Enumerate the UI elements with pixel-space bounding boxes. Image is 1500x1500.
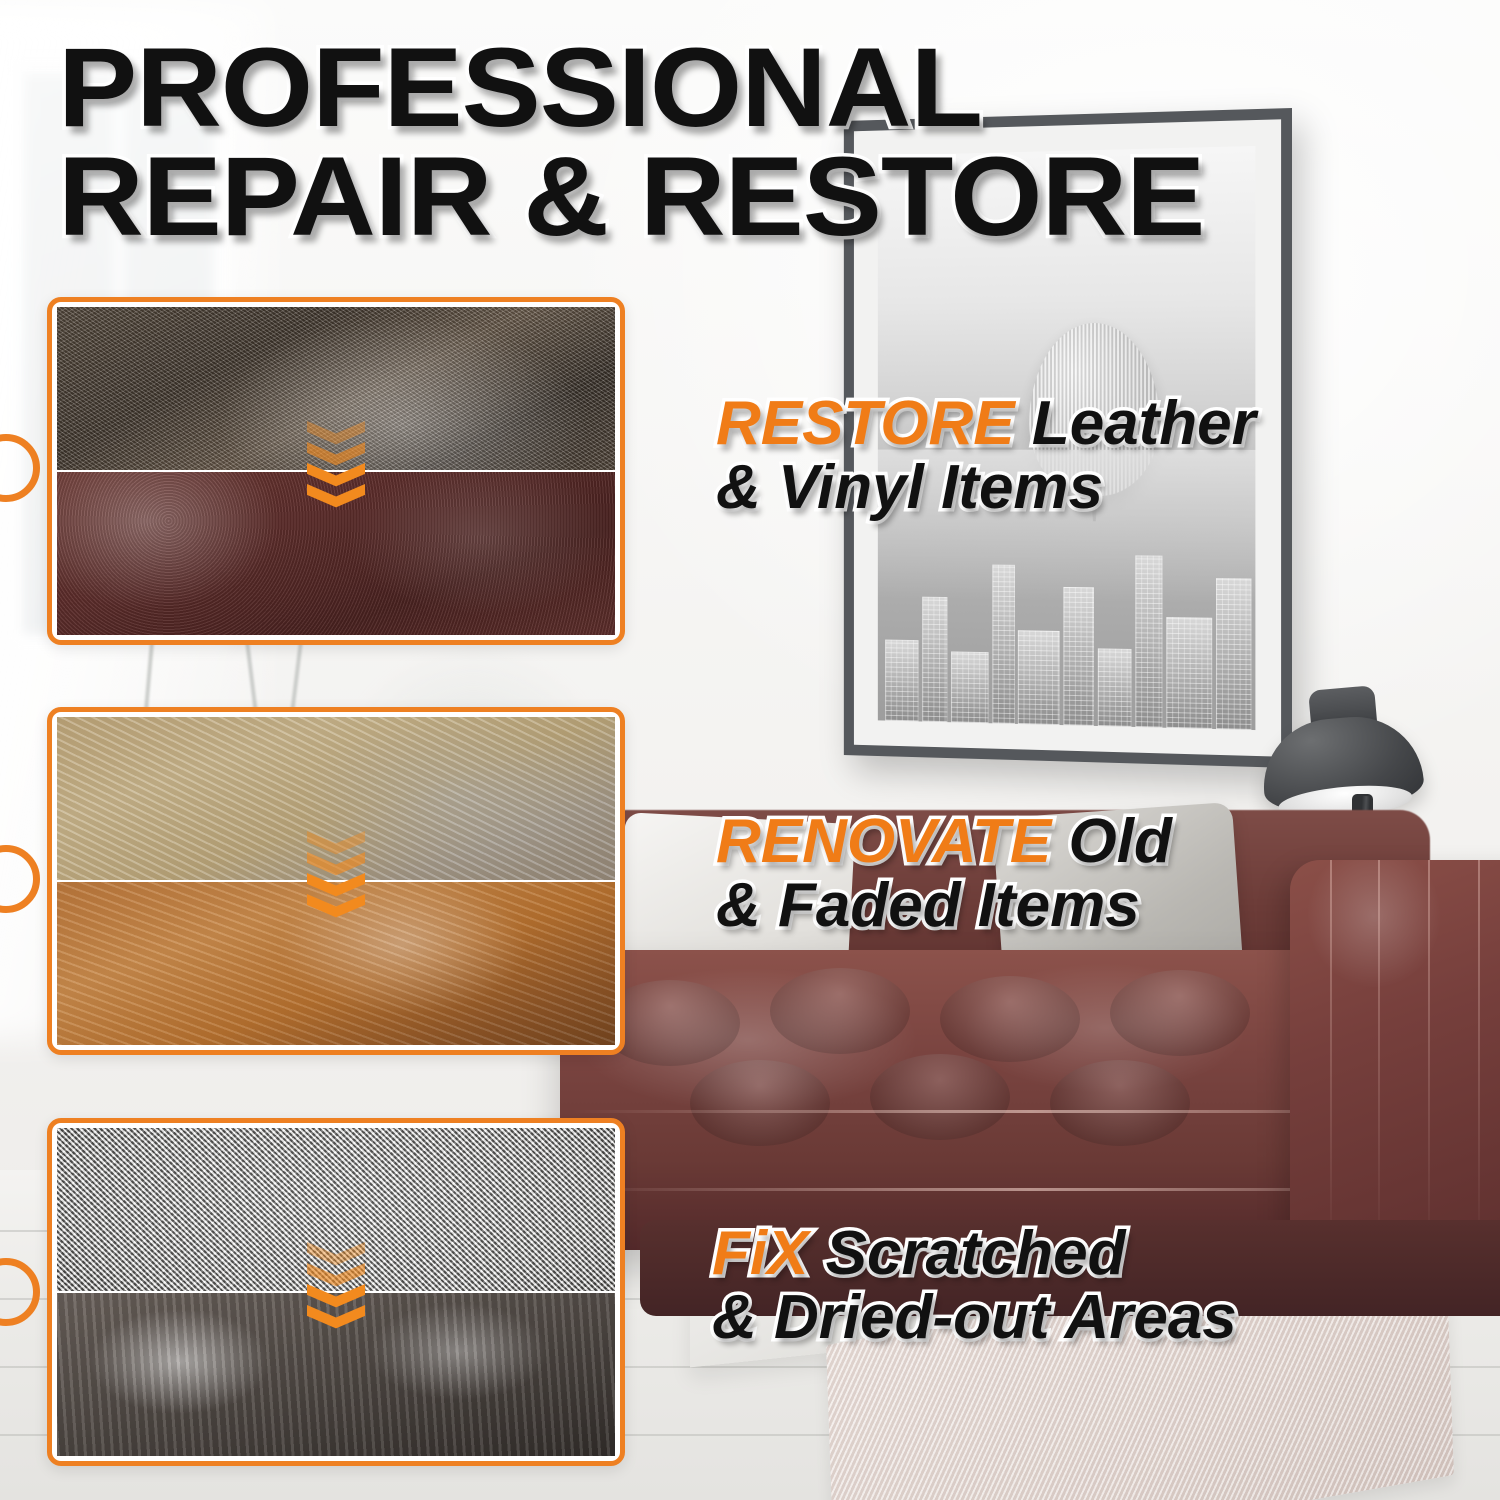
feature-restore-line1: Leather [1015, 389, 1256, 458]
feature-restore: RESTORE Leather& Vinyl Items [716, 392, 1376, 521]
feature-renovate-line2: & Faded Items [716, 874, 1276, 938]
comparison-panel-cracked-seat [47, 1118, 625, 1466]
sofa-armrest [1290, 860, 1500, 1260]
comparison-panel-sofa-cushions [47, 707, 625, 1055]
before-image-sofa-cushions [57, 717, 615, 880]
feature-restore-line2: & Vinyl Items [716, 456, 1376, 520]
feature-fix: FiX Scratched& Dried-out Areas [712, 1222, 1352, 1351]
poster-headline: PROFESSIONAL REPAIR & RESTORE [58, 34, 1309, 251]
feature-fix-line1: Scratched [808, 1219, 1125, 1288]
feature-restore-keyword: RESTORE [716, 389, 1015, 458]
feature-renovate-line1: Old [1051, 807, 1172, 876]
product-feature-poster: PROFESSIONAL REPAIR & RESTORE RESTORE Le… [0, 0, 1500, 1500]
feature-renovate: RENOVATE Old& Faded Items [716, 810, 1276, 939]
before-image-cracked-seat [57, 1128, 615, 1291]
after-image-sofa-cushions [57, 882, 615, 1045]
comparison-panel-leather-swatch [47, 297, 625, 645]
feature-renovate-keyword: RENOVATE [716, 807, 1051, 876]
before-image-leather-swatch [57, 307, 615, 470]
feature-fix-keyword: FiX [712, 1219, 808, 1288]
feature-fix-line2: & Dried-out Areas [712, 1286, 1352, 1350]
after-image-cracked-seat [57, 1293, 615, 1456]
after-image-leather-swatch [57, 472, 615, 635]
